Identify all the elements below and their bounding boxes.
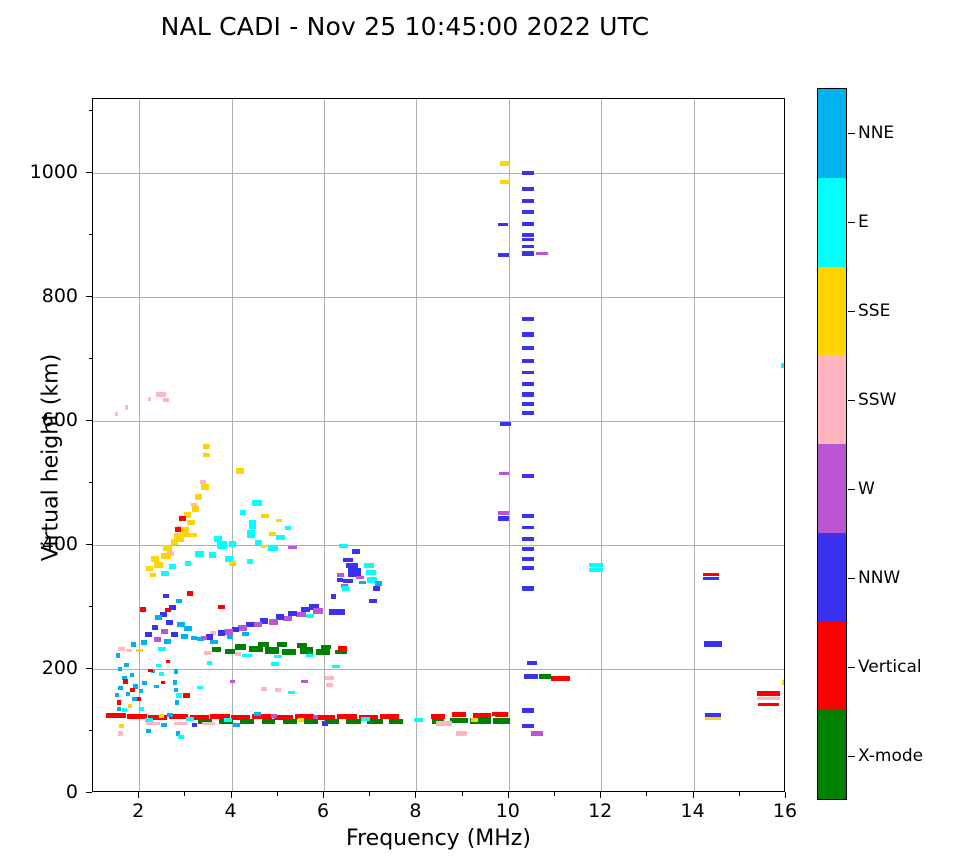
echo-mark [238, 625, 247, 631]
echo-mark [145, 632, 152, 637]
y-tick-label: 200 [0, 657, 78, 679]
echo-mark [122, 708, 127, 712]
colorbar-label-sse: SSE [858, 301, 890, 321]
x-tick-label: 14 [681, 800, 705, 822]
echo-mark [158, 647, 166, 651]
echo-mark [175, 527, 181, 532]
colorbar-tick [848, 578, 855, 579]
echo-mark [522, 222, 534, 226]
x-tick-label: 2 [132, 800, 144, 822]
echo-mark [452, 712, 466, 717]
colorbar-tick [848, 756, 855, 757]
echo-mark [201, 484, 209, 490]
echo-mark [325, 676, 333, 680]
echo-mark [197, 637, 204, 641]
echo-mark [326, 683, 333, 687]
echo-mark [209, 552, 216, 558]
echo-mark [285, 526, 292, 530]
echo-mark [522, 346, 534, 350]
echo-mark [704, 641, 723, 647]
echo-mark [522, 586, 534, 590]
echo-mark [130, 673, 135, 677]
echo-mark [174, 722, 188, 726]
echo-mark [522, 371, 534, 374]
echo-mark [169, 605, 176, 610]
echo-mark [361, 717, 370, 721]
x-tick [323, 792, 324, 798]
echo-mark [145, 718, 153, 722]
x-tick-minor [554, 792, 555, 796]
colorbar-segment-e[interactable] [818, 178, 846, 267]
y-tick [86, 420, 92, 421]
echo-mark [522, 359, 534, 363]
x-tick-minor [739, 792, 740, 796]
echo-mark [195, 494, 202, 500]
echo-mark [136, 649, 143, 653]
x-axis-title: Frequency (MHz) [92, 826, 785, 851]
echo-mark [757, 691, 780, 696]
echo-mark [176, 599, 182, 603]
echo-mark [522, 392, 534, 396]
echo-mark [118, 647, 125, 651]
colorbar-label-ssw: SSW [858, 390, 896, 410]
echo-mark [306, 614, 314, 618]
echo-mark [456, 731, 467, 735]
colorbar-tick [848, 400, 855, 401]
y-axis-title: Virtual height (km) [39, 278, 64, 638]
colorbar-tick [848, 311, 855, 312]
echo-mark [159, 714, 165, 718]
echo-mark [154, 562, 162, 568]
echo-mark [117, 707, 122, 711]
echo-mark [235, 644, 246, 650]
colorbar-segment-sse[interactable] [818, 267, 846, 356]
echo-mark [152, 625, 159, 630]
echo-mark [339, 544, 348, 548]
colorbar-label-x-mode: X-mode [858, 746, 923, 766]
echo-mark [218, 605, 225, 609]
y-tick-minor [89, 482, 93, 483]
echo-mark [313, 715, 319, 719]
echo-mark [316, 649, 330, 655]
echo-mark [522, 557, 534, 561]
echo-mark [500, 180, 510, 184]
echo-mark [117, 700, 122, 704]
echo-mark [306, 654, 313, 658]
echo-mark [169, 564, 176, 569]
colorbar-segment-nne[interactable] [818, 89, 846, 178]
echo-mark [536, 252, 548, 255]
echo-mark [161, 681, 166, 685]
echo-mark [148, 669, 153, 673]
echo-mark [233, 723, 240, 727]
x-tick-minor [184, 792, 185, 796]
echo-mark [166, 620, 173, 625]
echo-mark [500, 422, 511, 426]
echo-mark [522, 474, 534, 478]
echo-mark [141, 640, 148, 645]
x-tick-label: 8 [409, 800, 421, 822]
echo-mark [146, 566, 153, 571]
echo-mark [268, 546, 278, 551]
echo-mark [522, 724, 534, 728]
echo-mark [155, 615, 162, 620]
echo-mark [154, 637, 161, 642]
colorbar-segment-nnw[interactable] [818, 533, 846, 622]
echo-mark [527, 661, 537, 665]
x-tick [693, 792, 694, 798]
echo-mark [151, 556, 158, 562]
x-tick-label: 10 [496, 800, 520, 822]
echo-mark [192, 723, 198, 727]
echo-mark [154, 685, 159, 689]
echo-mark [364, 563, 374, 568]
echo-mark [185, 561, 192, 566]
echo-mark [471, 718, 478, 722]
echo-mark [522, 251, 534, 256]
echo-mark [258, 642, 269, 648]
echo-mark [414, 718, 423, 722]
echo-mark [366, 570, 376, 576]
echo-mark [140, 707, 145, 711]
colorbar-segment-x-mode[interactable] [818, 710, 846, 799]
echo-mark [161, 553, 170, 559]
x-tick [600, 792, 601, 798]
echo-mark [118, 686, 123, 690]
echo-mark [332, 665, 339, 669]
x-tick-label: 4 [225, 800, 237, 822]
echo-mark [130, 688, 135, 692]
x-tick-minor [369, 792, 370, 796]
echo-mark [261, 545, 268, 549]
figure-title: NAL CADI - Nov 25 10:45:00 2022 UTC [0, 12, 810, 41]
echo-mark [240, 510, 247, 515]
echo-mark [262, 719, 276, 724]
echo-mark [167, 713, 174, 717]
echo-mark [522, 547, 534, 551]
echo-mark [174, 669, 179, 673]
echo-mark [207, 661, 213, 665]
colorbar-segment-w[interactable] [818, 444, 846, 533]
x-tick-minor [277, 792, 278, 796]
echo-mark [522, 332, 534, 336]
x-tick-label: 16 [773, 800, 797, 822]
echo-mark [126, 649, 133, 653]
echo-mark [118, 667, 123, 671]
echo-mark [229, 561, 236, 566]
echo-mark [781, 363, 785, 369]
echo-mark [296, 612, 306, 618]
echo-mark [703, 577, 720, 581]
colorbar-tick [848, 133, 855, 134]
echo-mark [195, 551, 204, 557]
echo-mark [499, 472, 509, 475]
echo-mark [589, 563, 603, 567]
y-tick [86, 544, 92, 545]
echo-mark [277, 642, 287, 647]
echo-mark [298, 718, 305, 722]
y-tick [86, 172, 92, 173]
echo-mark [322, 721, 328, 725]
echo-mark [235, 652, 242, 656]
echo-mark [156, 664, 162, 668]
echo-mark [203, 444, 210, 449]
echo-mark [551, 676, 570, 681]
echo-mark [179, 516, 186, 521]
echo-mark [522, 210, 534, 214]
echo-mark [159, 672, 165, 676]
echo-mark [178, 735, 184, 739]
echo-mark [758, 703, 779, 706]
echo-mark [283, 616, 292, 622]
colorbar-label-vertical: Vertical [858, 657, 922, 677]
echo-mark [230, 680, 236, 684]
echo-mark [240, 719, 254, 724]
echo-mark [498, 511, 509, 515]
colorbar-tick [848, 667, 855, 668]
echo-mark [265, 647, 279, 653]
echo-mark [140, 607, 146, 611]
echo-mark [522, 566, 534, 570]
colorbar-label-w: W [858, 479, 875, 499]
y-tick-label: 0 [0, 781, 78, 803]
echo-mark [126, 692, 131, 696]
echo-mark [269, 532, 276, 536]
echo-mark [161, 571, 168, 576]
colorbar-tick [848, 222, 855, 223]
echo-mark [229, 541, 236, 547]
echo-mark [183, 693, 190, 698]
echo-mark [176, 693, 183, 698]
echo-mark [342, 586, 349, 590]
echo-mark [276, 535, 284, 540]
echo-mark [589, 568, 603, 572]
echo-mark [115, 412, 118, 416]
echo-mark [161, 723, 168, 727]
x-tick [231, 792, 232, 798]
echo-mark [352, 549, 360, 554]
ionogram-figure: NAL CADI - Nov 25 10:45:00 2022 UTC 2468… [0, 0, 958, 857]
echo-mark [275, 688, 282, 692]
echo-mark [375, 581, 382, 585]
echo-mark [123, 679, 128, 683]
echo-mark [498, 253, 509, 257]
echo-mark [498, 516, 509, 520]
echo-mark [131, 642, 137, 647]
echo-mark [225, 649, 235, 655]
echo-mark [128, 704, 133, 708]
echo-mark [369, 599, 376, 603]
echo-mark [202, 722, 216, 726]
echo-mark [782, 680, 785, 686]
echo-mark [337, 573, 344, 577]
echo-mark [119, 724, 124, 728]
echo-mark [242, 632, 249, 636]
echo-mark [522, 708, 534, 712]
echo-mark [495, 712, 509, 717]
echo-mark [242, 654, 252, 658]
y-tick-minor [89, 110, 93, 111]
echo-mark [227, 635, 234, 639]
echo-mark [203, 453, 210, 457]
echo-mark [531, 731, 543, 735]
echo-mark [116, 653, 121, 657]
echo-mark [106, 713, 125, 718]
echo-mark [282, 649, 296, 655]
echo-mark [166, 660, 171, 664]
colorbar-segment-ssw[interactable] [818, 355, 846, 444]
x-tick-label: 12 [588, 800, 612, 822]
echo-mark [522, 245, 534, 249]
echo-mark [261, 687, 268, 691]
echo-mark [124, 663, 129, 667]
echo-mark [359, 581, 366, 585]
echo-mark [236, 468, 243, 474]
y-tick [86, 792, 92, 793]
echo-mark [331, 594, 337, 599]
echo-mark [343, 558, 352, 562]
echo-mark [192, 506, 199, 512]
echo-mark [500, 161, 510, 165]
colorbar-tick [848, 489, 855, 490]
data-layer [93, 99, 784, 791]
echo-mark [204, 651, 211, 655]
echo-mark [183, 533, 197, 537]
echo-mark [142, 681, 147, 685]
y-tick-minor [89, 358, 93, 359]
echo-mark [757, 697, 780, 700]
echo-mark [271, 662, 278, 666]
echo-mark [338, 609, 345, 615]
x-tick-minor [646, 792, 647, 796]
echo-mark [164, 639, 171, 644]
echo-mark [274, 655, 282, 659]
y-tick-minor [89, 606, 93, 607]
echo-mark [161, 629, 168, 634]
x-tick-minor [462, 792, 463, 796]
echo-mark [436, 721, 452, 725]
y-tick [86, 668, 92, 669]
echo-mark [184, 626, 192, 631]
colorbar-label-nne: NNE [858, 123, 894, 143]
echo-mark [254, 712, 261, 716]
echo-mark [271, 714, 277, 718]
echo-mark [146, 729, 152, 733]
y-tick-minor [89, 234, 93, 235]
echo-mark [338, 646, 346, 651]
echo-mark [187, 520, 194, 525]
echo-mark [539, 674, 551, 679]
echo-mark [297, 643, 307, 648]
echo-mark [522, 171, 534, 175]
x-tick [508, 792, 509, 798]
echo-mark [247, 530, 255, 537]
y-tick-minor [89, 730, 93, 731]
echo-mark [450, 718, 469, 724]
echo-mark [125, 405, 128, 409]
echo-mark [498, 223, 508, 226]
echo-mark [163, 594, 170, 598]
echo-mark [261, 514, 268, 518]
echo-mark [522, 537, 534, 541]
echo-mark [522, 514, 534, 518]
echo-mark [218, 630, 225, 636]
echo-mark [253, 622, 262, 628]
colorbar-label-nnw: NNW [858, 568, 900, 588]
y-tick [86, 296, 92, 297]
echo-mark [356, 576, 363, 580]
echo-mark [146, 722, 160, 726]
echo-mark [115, 693, 120, 697]
echo-mark [148, 397, 152, 401]
echo-mark [343, 579, 353, 583]
x-tick [785, 792, 786, 798]
echo-mark [288, 546, 296, 549]
echo-mark [705, 717, 722, 721]
y-tick-label: 1000 [0, 161, 78, 183]
echo-mark [156, 392, 166, 397]
echo-mark [186, 717, 194, 721]
echo-mark [321, 645, 331, 649]
echo-mark [163, 545, 172, 551]
echo-mark [217, 541, 227, 549]
echo-mark [247, 559, 254, 564]
echo-mark [249, 520, 256, 529]
echo-mark [283, 719, 297, 724]
echo-mark [524, 674, 538, 680]
echo-mark [212, 647, 221, 652]
echo-mark [276, 519, 283, 523]
plot-area [92, 98, 785, 792]
echo-mark [173, 680, 178, 686]
x-tick [415, 792, 416, 798]
echo-mark [522, 526, 534, 529]
echo-mark [118, 731, 123, 735]
echo-mark [522, 402, 534, 406]
colorbar-segment-vertical[interactable] [818, 622, 846, 711]
echo-mark [181, 634, 188, 639]
echo-mark [150, 573, 156, 577]
echo-mark [197, 686, 203, 690]
echo-mark [137, 697, 142, 701]
echo-mark [522, 317, 534, 321]
echo-mark [187, 591, 194, 595]
colorbar-label-e: E [858, 212, 869, 232]
echo-mark [269, 619, 278, 625]
echo-mark [522, 382, 534, 386]
echo-mark [210, 640, 217, 644]
echo-mark [171, 632, 178, 637]
echo-mark [127, 714, 146, 719]
echo-mark [373, 586, 380, 590]
colorbar[interactable] [817, 88, 847, 800]
echo-mark [175, 700, 180, 704]
echo-mark [522, 199, 534, 203]
echo-mark [522, 187, 534, 191]
x-tick [138, 792, 139, 798]
echo-mark [288, 691, 295, 695]
echo-mark [301, 680, 308, 684]
echo-mark [493, 718, 510, 724]
x-tick-label: 6 [317, 800, 329, 822]
echo-mark [163, 398, 170, 402]
echo-mark [389, 719, 403, 724]
echo-mark [346, 719, 362, 724]
echo-mark [252, 500, 261, 507]
echo-mark [522, 238, 534, 242]
echo-mark [522, 411, 534, 415]
echo-mark [346, 563, 358, 568]
